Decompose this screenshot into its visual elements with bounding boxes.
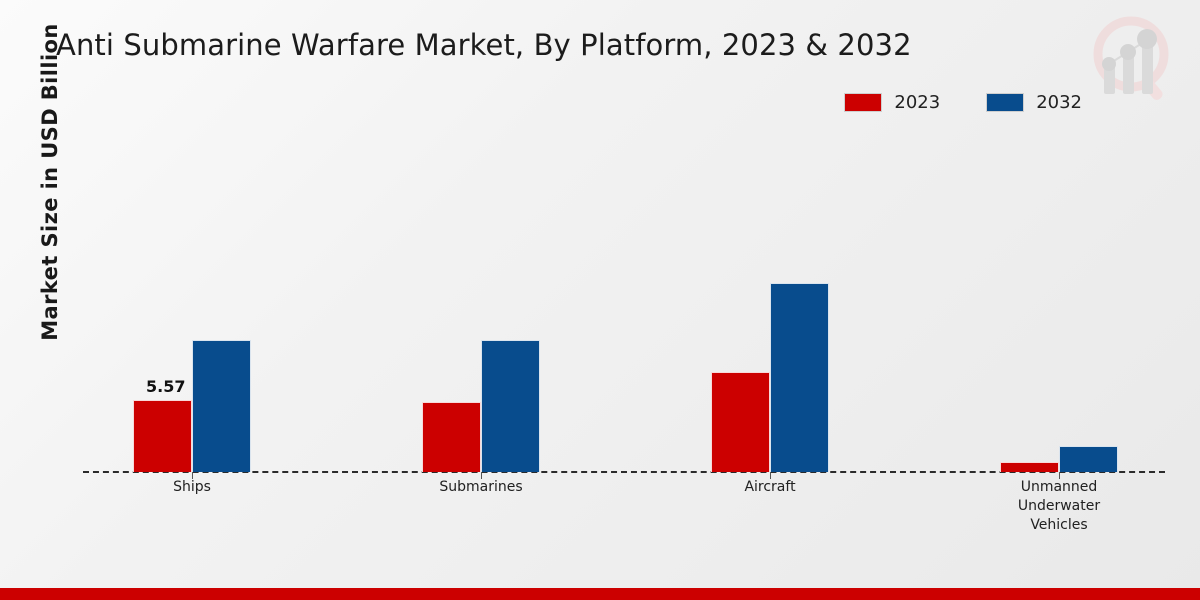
x-label-uuv-line-2: Underwater [969,497,1149,516]
legend-label-2023: 2023 [894,92,940,113]
x-label-submarines-line-1: Submarines [391,478,571,497]
legend-swatch-2032 [986,93,1024,112]
chart-title: Anti Submarine Warfare Market, By Platfo… [56,28,912,62]
legend-swatch-2023 [844,93,882,112]
y-axis-title: Market Size in USD Billion [38,0,62,382]
bars-aircraft [711,170,829,472]
bar-submarines-2032[interactable] [481,340,540,472]
chart-page: Anti Submarine Warfare Market, By Platfo… [0,0,1200,600]
watermark-logo-icon [1076,8,1186,108]
legend-item-2023[interactable]: 2023 [844,92,940,113]
x-label-unmanned-underwater-vehicles: Unmanned Underwater Vehicles [969,478,1149,535]
bar-ships-2032[interactable] [192,340,251,472]
legend-label-2032: 2032 [1036,92,1082,113]
x-label-aircraft: Aircraft [680,478,860,497]
bar-submarines-2023[interactable] [422,402,481,472]
x-label-ships: Ships [102,478,282,497]
bar-aircraft-2032[interactable] [770,283,829,472]
x-label-aircraft-line-1: Aircraft [680,478,860,497]
bars-submarines [422,170,540,472]
bar-unmanned-underwater-vehicles-2023[interactable] [1000,462,1059,472]
bar-aircraft-2023[interactable] [711,372,770,472]
bar-ships-2023[interactable] [133,400,192,472]
bar-unmanned-underwater-vehicles-2032[interactable] [1059,446,1118,472]
x-label-uuv-line-1: Unmanned [969,478,1149,497]
x-label-ships-line-1: Ships [102,478,282,497]
x-label-uuv-line-3: Vehicles [969,516,1149,535]
x-label-submarines: Submarines [391,478,571,497]
plot-area: 5.57 Ships Submarines Ai [83,170,1165,472]
footer-accent-bar [0,588,1200,600]
legend-item-2032[interactable]: 2032 [986,92,1082,113]
bars-unmanned-underwater-vehicles [1000,170,1118,472]
bar-value-ships-2023: 5.57 [146,377,185,396]
chart-legend: 2023 2032 [844,92,1082,113]
bars-ships [133,170,251,472]
